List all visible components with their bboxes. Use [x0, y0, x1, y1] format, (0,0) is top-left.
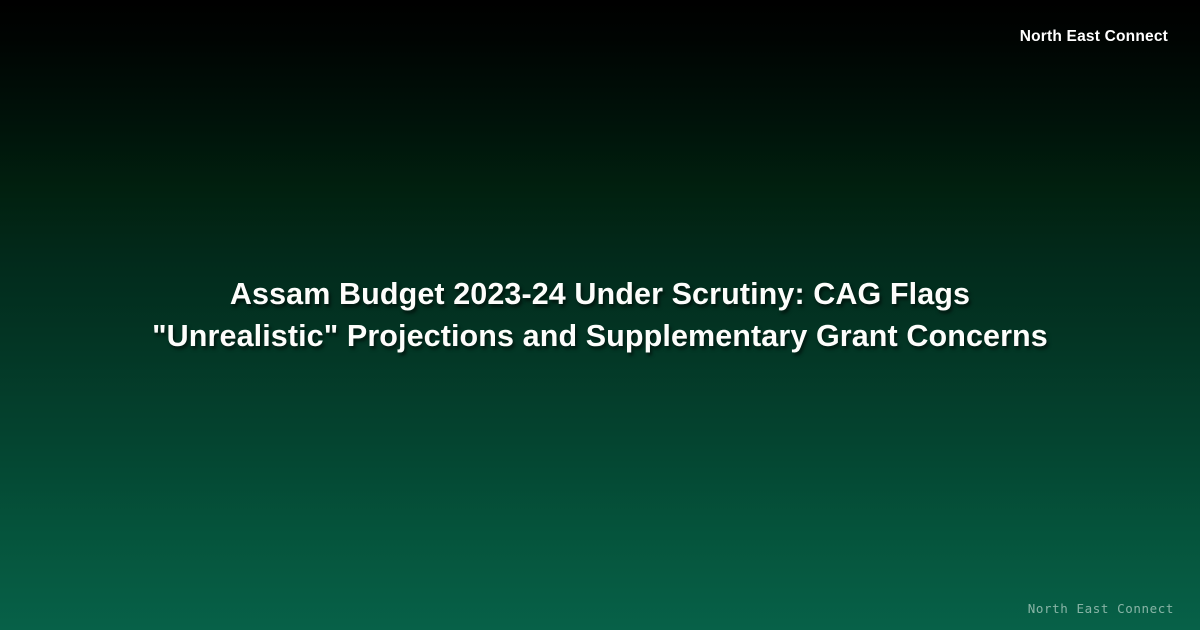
- headline-container: Assam Budget 2023-24 Under Scrutiny: CAG…: [0, 0, 1200, 630]
- page-title: Assam Budget 2023-24 Under Scrutiny: CAG…: [70, 273, 1130, 357]
- news-card-banner: North East Connect Assam Budget 2023-24 …: [0, 0, 1200, 630]
- brand-watermark-bottom-right: North East Connect: [1028, 601, 1174, 616]
